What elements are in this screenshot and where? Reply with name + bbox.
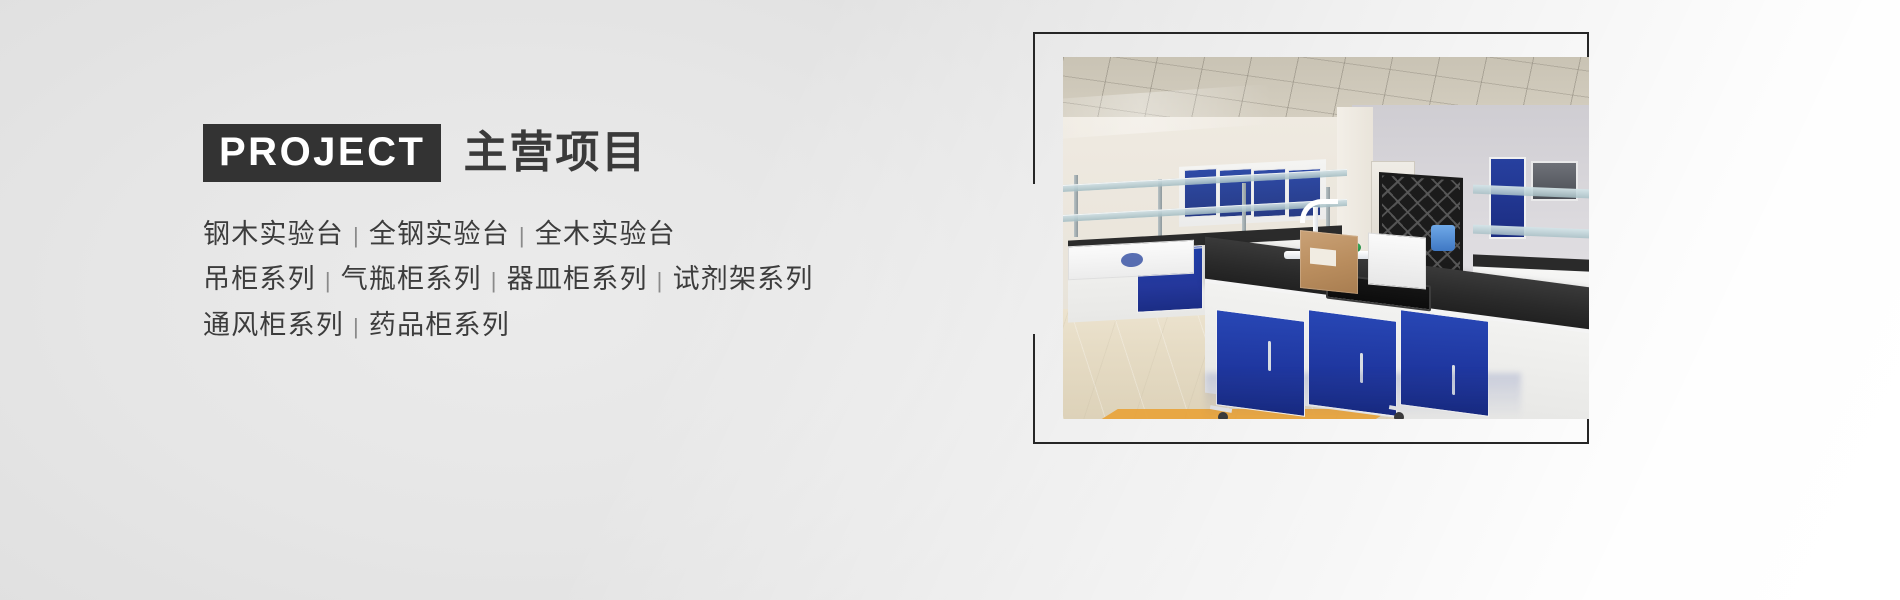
carton-label: [1310, 248, 1336, 267]
category-separator: |: [316, 263, 341, 300]
category-separator: |: [510, 218, 535, 255]
category-item[interactable]: 钢木实验台: [203, 212, 344, 257]
photo-scene: [1063, 57, 1589, 419]
page-title: 主营项目: [463, 131, 647, 175]
project-banner: PROJECT 主营项目 钢木实验台 | 全钢实验台 | 全木实验台 吊柜系列 …: [0, 0, 1900, 600]
frame-border-left-lower: [1033, 334, 1035, 444]
category-item[interactable]: 药品柜系列: [369, 303, 510, 348]
category-item[interactable]: 气瓶柜系列: [341, 257, 482, 302]
cabinet-handle: [1268, 341, 1271, 371]
category-line-3: 通风柜系列 | 药品柜系列: [203, 303, 863, 348]
category-separator: |: [344, 218, 369, 255]
category-item[interactable]: 器皿柜系列: [507, 257, 648, 302]
photo-frame: [1033, 32, 1589, 444]
category-separator: |: [344, 309, 369, 346]
page-title-eyebrow-badge: PROJECT: [203, 124, 441, 182]
frame-border-top: [1033, 32, 1589, 34]
frame-border-bottom: [1033, 442, 1589, 444]
category-separator: |: [482, 263, 507, 300]
category-list: 钢木实验台 | 全钢实验台 | 全木实验台 吊柜系列 | 气瓶柜系列 | 器皿柜…: [203, 212, 863, 348]
frame-border-left-upper: [1033, 32, 1035, 184]
reagent-bottle: [1431, 225, 1455, 251]
white-equipment-box: [1368, 232, 1426, 289]
category-separator: |: [648, 263, 673, 300]
category-item[interactable]: 通风柜系列: [203, 303, 344, 348]
floor-bench-reflection: [1205, 373, 1521, 419]
banner-text-block: PROJECT 主营项目 钢木实验台 | 全钢实验台 | 全木实验台 吊柜系列 …: [203, 124, 863, 348]
category-item[interactable]: 全钢实验台: [369, 212, 510, 257]
banner-title-row: PROJECT 主营项目: [203, 124, 863, 182]
category-line-2: 吊柜系列 | 气瓶柜系列 | 器皿柜系列 | 试剂架系列: [203, 257, 863, 302]
laboratory-photo: [1063, 57, 1589, 419]
category-item[interactable]: 试剂架系列: [673, 257, 814, 302]
category-item[interactable]: 全木实验台: [535, 212, 676, 257]
category-item[interactable]: 吊柜系列: [203, 257, 316, 302]
category-line-1: 钢木实验台 | 全钢实验台 | 全木实验台: [203, 212, 863, 257]
